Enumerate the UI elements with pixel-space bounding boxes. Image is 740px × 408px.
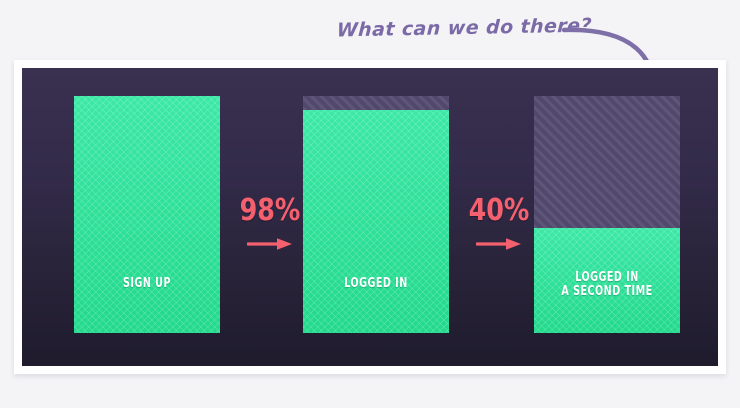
conversion-marker-1: 98% <box>227 196 313 251</box>
bar-sign-up-filled-segment <box>74 96 220 333</box>
conversion-1-percent: 98% <box>230 196 311 226</box>
bar-logged-in-second-time-lost-segment <box>534 96 680 228</box>
arrow-right-icon <box>247 237 293 251</box>
conversion-marker-2: 40% <box>456 196 542 251</box>
bar-logged-in[interactable]: LOGGED IN <box>303 96 449 333</box>
bar-logged-in-filled-segment <box>303 110 449 333</box>
annotation-text: What can we do there? <box>336 15 592 42</box>
funnel-chart-card: SIGN UP 98% LOGGED IN 40% <box>14 60 726 374</box>
funnel-chart-panel: SIGN UP 98% LOGGED IN 40% <box>22 68 718 366</box>
arrow-right-icon <box>476 237 522 251</box>
bar-logged-in-second-time[interactable]: LOGGED IN A SECOND TIME <box>534 96 680 333</box>
bar-sign-up[interactable]: SIGN UP <box>74 96 220 333</box>
conversion-2-percent: 40% <box>459 196 540 226</box>
bar-logged-in-lost-segment <box>303 96 449 110</box>
bar-logged-in-second-time-filled-segment <box>534 228 680 333</box>
